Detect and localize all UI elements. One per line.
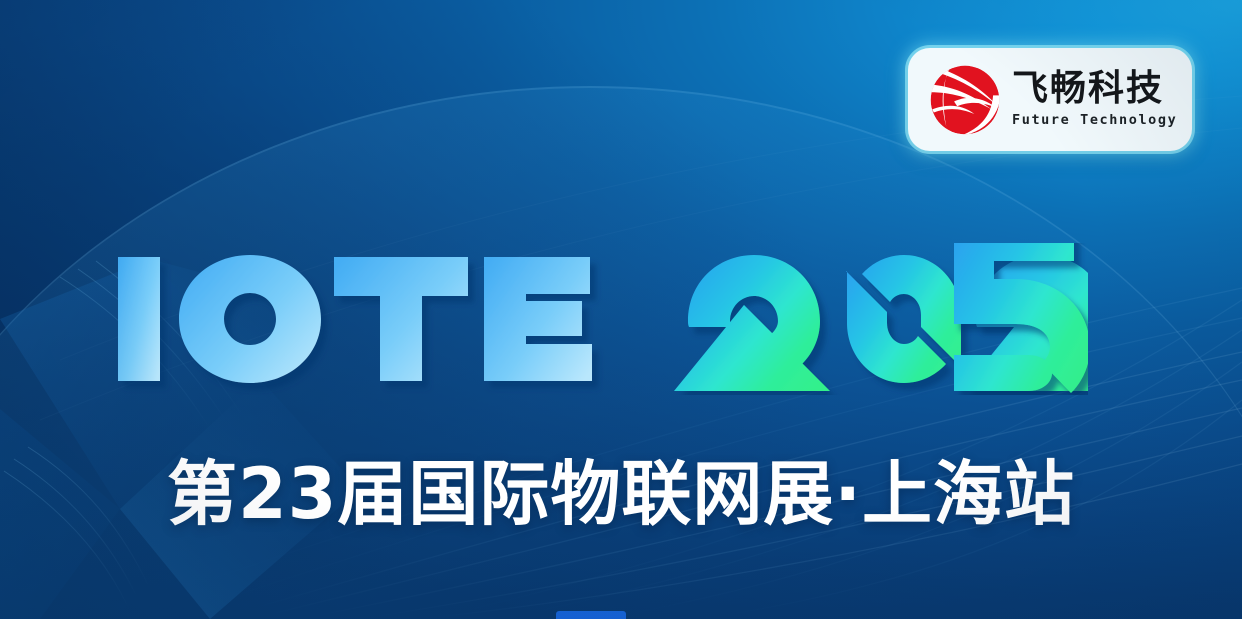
feichang-logo-icon <box>926 61 1004 139</box>
bottom-accent-tab <box>556 611 626 619</box>
event-subtitle: 第23届国际物联网展·上海站 <box>0 455 1242 533</box>
iote-2025-wordmark <box>118 243 1088 395</box>
logo-text-block: 飞畅科技 Future Technology <box>1012 71 1177 128</box>
logo-company-name-en: Future Technology <box>1012 114 1177 128</box>
main-title-group <box>118 243 1088 395</box>
iote-2025-banner: 飞畅科技 Future Technology <box>0 0 1242 619</box>
logo-company-name-cn: 飞畅科技 <box>1012 71 1177 107</box>
title-iote <box>118 255 592 383</box>
sponsor-logo-card[interactable]: 飞畅科技 Future Technology <box>908 48 1192 151</box>
